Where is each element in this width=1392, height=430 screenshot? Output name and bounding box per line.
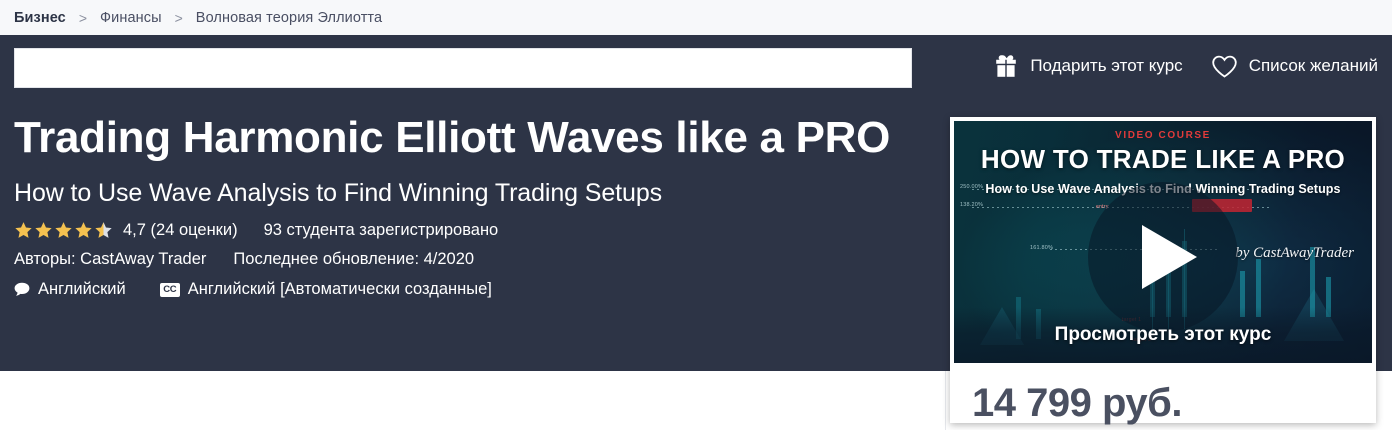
thumbnail-headline: HOW TO TRADE LIKE A PRO [954,144,1372,175]
breadcrumb-item-business[interactable]: Бизнес [14,10,66,26]
price-section: 14 799 руб. [950,367,1376,423]
heart-icon [1211,54,1238,79]
course-preview-video[interactable]: 250.00% 138.20% 161.80% entry target 1 t… [954,121,1372,363]
breadcrumb-separator: > [79,10,87,26]
course-landing-page: Бизнес > Финансы > Волновая теория Эллио… [0,0,1392,430]
captions-language-label: Английский [Автоматически созданные] [188,280,492,299]
page-title: Trading Harmonic Elliott Waves like a PR… [14,113,934,162]
star-icon-full [34,221,53,240]
star-icon-full [74,221,93,240]
course-price: 14 799 руб. [972,383,1354,423]
content-panel [14,48,912,88]
rating-stars[interactable] [14,221,113,240]
wishlist-label: Список желаний [1249,56,1378,76]
breadcrumb-separator: > [175,10,183,26]
author-row: Авторы: CastAway Trader Последнее обновл… [14,250,934,269]
star-icon-full [14,221,33,240]
star-icon-half [94,221,113,240]
language-label: Английский [38,280,126,299]
chart-fib-label: 161.80% [1030,245,1053,251]
rating-row: 4,7 (24 оценки) 93 студента зарегистриро… [14,221,934,240]
hero-actions: Подарить этот курс Список желаний [993,53,1378,79]
gift-course-label: Подарить этот курс [1030,56,1182,76]
chart-fib-label: 138.20% [960,202,983,208]
preview-course-button[interactable]: Просмотреть этот курс [954,307,1372,363]
star-icon-full [54,221,73,240]
last-updated-label: Последнее обновление: 4/2020 [233,250,474,269]
preview-course-label: Просмотреть этот курс [1055,324,1272,346]
wishlist-button[interactable]: Список желаний [1211,54,1378,79]
play-icon[interactable] [1142,225,1197,289]
thumbnail-byline: by CastAwayTrader [1235,245,1354,262]
speech-bubble-icon [14,282,30,297]
breadcrumb-item-finance[interactable]: Финансы [100,10,162,26]
language-row: Английский CC Английский [Автоматически … [14,280,934,299]
breadcrumb: Бизнес > Финансы > Волновая теория Эллио… [0,0,1392,35]
authors-label[interactable]: Авторы: CastAway Trader [14,250,206,269]
column-divider [945,371,946,430]
students-enrolled-label: 93 студента зарегистрировано [264,221,499,240]
thumbnail-eyebrow: VIDEO COURSE [954,130,1372,141]
rating-value-label: 4,7 (24 оценки) [123,221,238,240]
breadcrumb-item-elliott-wave[interactable]: Волновая теория Эллиотта [196,10,382,26]
purchase-card: 250.00% 138.20% 161.80% entry target 1 t… [950,117,1376,423]
course-info: Trading Harmonic Elliott Waves like a PR… [14,113,934,299]
closed-captions-icon: CC [160,283,180,297]
gift-course-button[interactable]: Подарить этот курс [993,53,1182,79]
gift-icon [993,53,1019,79]
course-subtitle: How to Use Wave Analysis to Find Winning… [14,178,934,208]
